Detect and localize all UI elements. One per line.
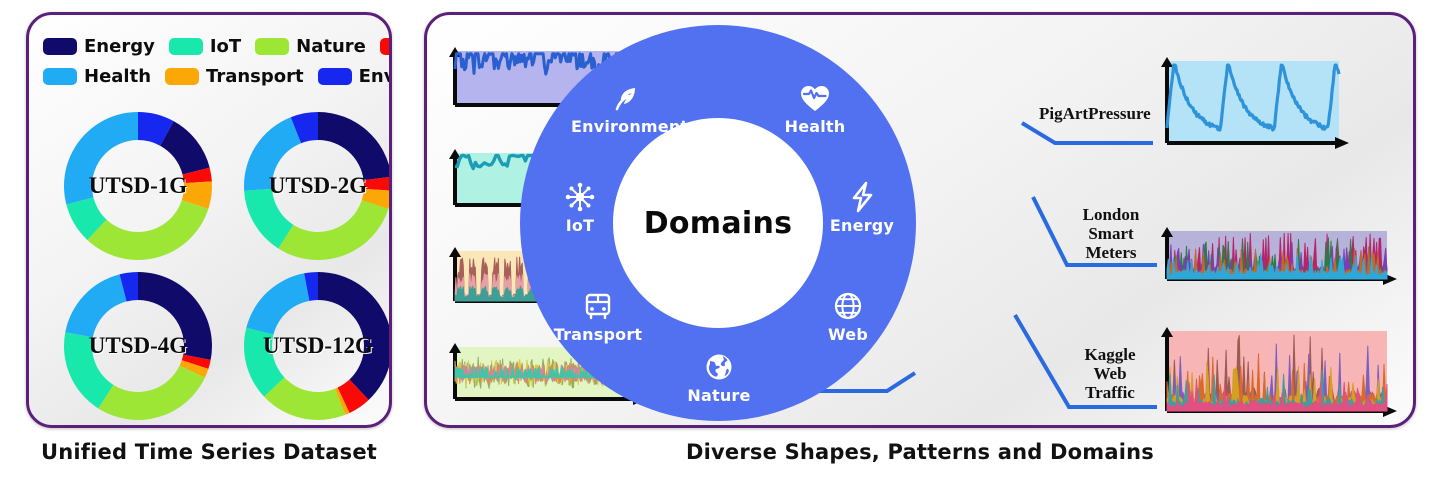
legend-swatch: [380, 38, 392, 55]
left-panel-caption: Unified Time Series Dataset: [26, 440, 392, 464]
ring-sector-nature[interactable]: Nature: [664, 350, 774, 405]
legend-row: EnergyIoTNatureWeb: [43, 31, 383, 61]
figure-root: EnergyIoTNatureWeb HealthTransportEnviro…: [0, 0, 1440, 477]
legend-item-health: Health: [43, 66, 151, 87]
legend-item-transport: Transport: [165, 66, 304, 87]
donut-svg: [59, 267, 217, 425]
right-panel-caption: Diverse Shapes, Patterns and Domains: [424, 440, 1416, 464]
ring-sector-transport[interactable]: Transport: [543, 289, 653, 344]
legend: EnergyIoTNatureWeb HealthTransportEnviro…: [43, 31, 383, 91]
label-kagglewebtraffic: Kaggle Web Traffic: [1067, 345, 1153, 402]
donut-slice-energy: [318, 272, 392, 400]
donut-chart-utsd-12g: UTSD-12G: [239, 267, 392, 425]
heartbeat-icon: [760, 81, 870, 115]
donut-slice-nature: [87, 200, 208, 260]
legend-label: Energy: [84, 36, 155, 57]
domains-ring: Domains Environment Health: [520, 25, 916, 421]
donut-slice-energy: [138, 272, 212, 360]
sector-label: Health: [760, 117, 870, 136]
sector-label: IoT: [525, 216, 635, 235]
right-panel: AustraliaRainfall Sensor Data Pedestrian…: [424, 12, 1416, 428]
legend-item-iot: IoT: [169, 36, 241, 57]
legend-item-web: Web: [380, 36, 392, 57]
donut-slice-nature: [278, 200, 388, 260]
legend-item-energy: Energy: [43, 36, 155, 57]
mini-chart-londonsmartmeters: [1153, 227, 1401, 293]
chart-LondonSmartMeters: [1153, 227, 1401, 293]
donut-svg: [239, 107, 392, 265]
legend-swatch: [255, 38, 289, 55]
bus-icon: [543, 289, 653, 323]
legend-item-nature: Nature: [255, 36, 366, 57]
ring-sector-environment[interactable]: Environment: [571, 81, 681, 136]
left-panel: EnergyIoTNatureWeb HealthTransportEnviro…: [26, 12, 392, 428]
ring-sector-iot[interactable]: IoT: [525, 180, 635, 235]
mini-chart-kagglewebtraffic: [1153, 327, 1401, 425]
iot-network-icon: [525, 180, 635, 214]
donut-svg: [59, 107, 217, 265]
donut-svg: [239, 267, 392, 425]
legend-swatch: [43, 38, 77, 55]
legend-swatch: [165, 68, 199, 85]
legend-label: Environment: [359, 66, 392, 87]
donut-slice-health: [244, 117, 301, 190]
ring-sector-web[interactable]: Web: [793, 289, 903, 344]
mini-chart-pigartpressure: [1153, 57, 1353, 157]
leaf-icon: [571, 81, 681, 115]
donut-slice-health: [64, 112, 138, 204]
donut-slice-health: [246, 273, 309, 334]
legend-label: Nature: [296, 36, 366, 57]
legend-label: Transport: [206, 66, 304, 87]
ring-sector-energy[interactable]: Energy: [807, 180, 917, 235]
donut-slice-health: [65, 274, 126, 337]
sector-label: Environment: [571, 117, 681, 136]
sector-label: Web: [793, 325, 903, 344]
legend-label: IoT: [210, 36, 241, 57]
legend-row: HealthTransportEnvironment: [43, 61, 383, 91]
legend-item-environment: Environment: [318, 66, 392, 87]
donut-slice-nature: [98, 366, 205, 420]
legend-swatch: [169, 38, 203, 55]
lightning-bolt-icon: [807, 180, 917, 214]
sector-label: Energy: [807, 216, 917, 235]
sector-label: Transport: [543, 325, 653, 344]
legend-swatch: [43, 68, 77, 85]
chart-PigArtPressure: [1153, 57, 1353, 157]
legend-swatch: [318, 68, 352, 85]
donut-chart-utsd-2g: UTSD-2G: [239, 107, 392, 265]
donut-chart-utsd-4g: UTSD-4G: [59, 267, 217, 425]
sector-label: Nature: [664, 386, 774, 405]
ring-sector-health[interactable]: Health: [760, 81, 870, 136]
donut-slice-energy: [318, 112, 391, 180]
earth-globe-icon: [664, 350, 774, 384]
donut-chart-utsd-1g: UTSD-1G: [59, 107, 217, 265]
label-pigartpressure: PigArtPressure: [1039, 104, 1169, 123]
chart-KaggleWebTraffic: [1153, 327, 1401, 425]
legend-label: Health: [84, 66, 151, 87]
globe-grid-icon: [793, 289, 903, 323]
label-londonsmartmeters: London Smart Meters: [1069, 205, 1153, 262]
